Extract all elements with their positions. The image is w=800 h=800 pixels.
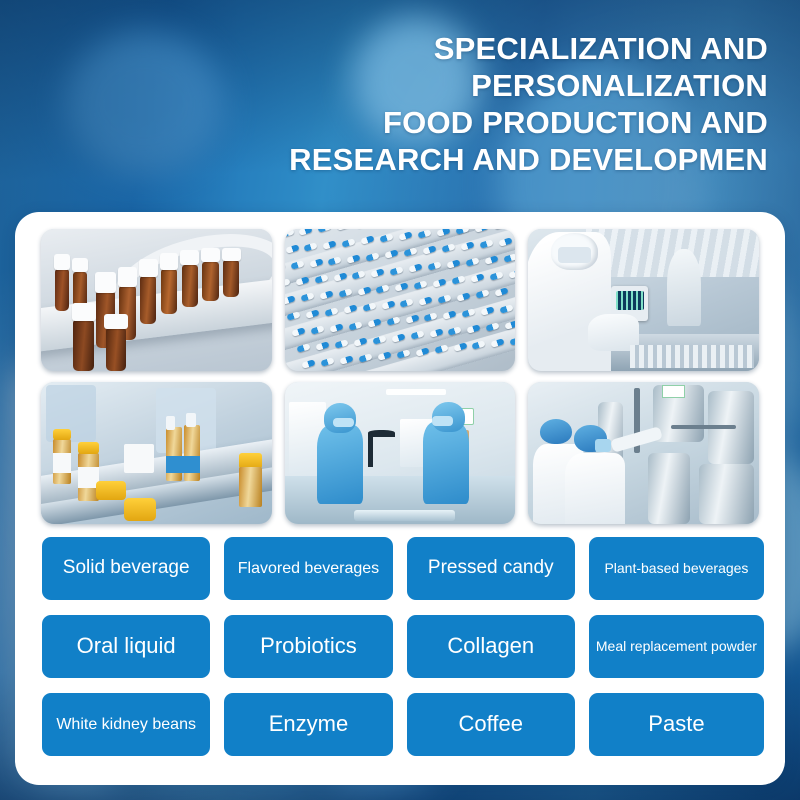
headline-line-4: RESEARCH AND DEVELOPMEN	[208, 141, 768, 178]
product-tag[interactable]: Paste	[589, 693, 764, 756]
product-tag[interactable]: Probiotics	[224, 615, 392, 678]
headline-line-1: SPECIALIZATION AND	[208, 30, 768, 67]
photo-cleanroom-workers-blue-suits[interactable]	[285, 382, 516, 524]
product-tag[interactable]: Oral liquid	[42, 615, 210, 678]
product-tag[interactable]: Coffee	[407, 693, 575, 756]
product-tag-grid: Solid beverageFlavored beveragesPressed …	[42, 537, 764, 756]
photo-blue-white-capsules-blister[interactable]	[285, 229, 516, 371]
product-tag[interactable]: White kidney beans	[42, 693, 210, 756]
product-tag[interactable]: Solid beverage	[42, 537, 210, 600]
headline-line-2: PERSONALIZATION	[208, 67, 768, 104]
page-title: SPECIALIZATION AND PERSONALIZATION FOOD …	[208, 30, 768, 178]
product-tag[interactable]: Pressed candy	[407, 537, 575, 600]
photo-operators-stainless-tanks[interactable]	[528, 382, 759, 524]
product-tag[interactable]: Enzyme	[224, 693, 392, 756]
photo-gallery	[41, 229, 759, 524]
product-tag[interactable]: Collagen	[407, 615, 575, 678]
photo-yellow-cap-bottles-conveyor[interactable]	[41, 382, 272, 524]
product-tag[interactable]: Flavored beverages	[224, 537, 392, 600]
product-tag[interactable]: Meal replacement powder	[589, 615, 764, 678]
headline-line-3: FOOD PRODUCTION AND	[208, 104, 768, 141]
promo-banner: SPECIALIZATION AND PERSONALIZATION FOOD …	[0, 0, 800, 800]
product-tag[interactable]: Plant-based beverages	[589, 537, 764, 600]
photo-amber-bottles-conveyor[interactable]	[41, 229, 272, 371]
content-card: Solid beverageFlavored beveragesPressed …	[15, 212, 785, 785]
photo-technician-filling-line[interactable]	[528, 229, 759, 371]
